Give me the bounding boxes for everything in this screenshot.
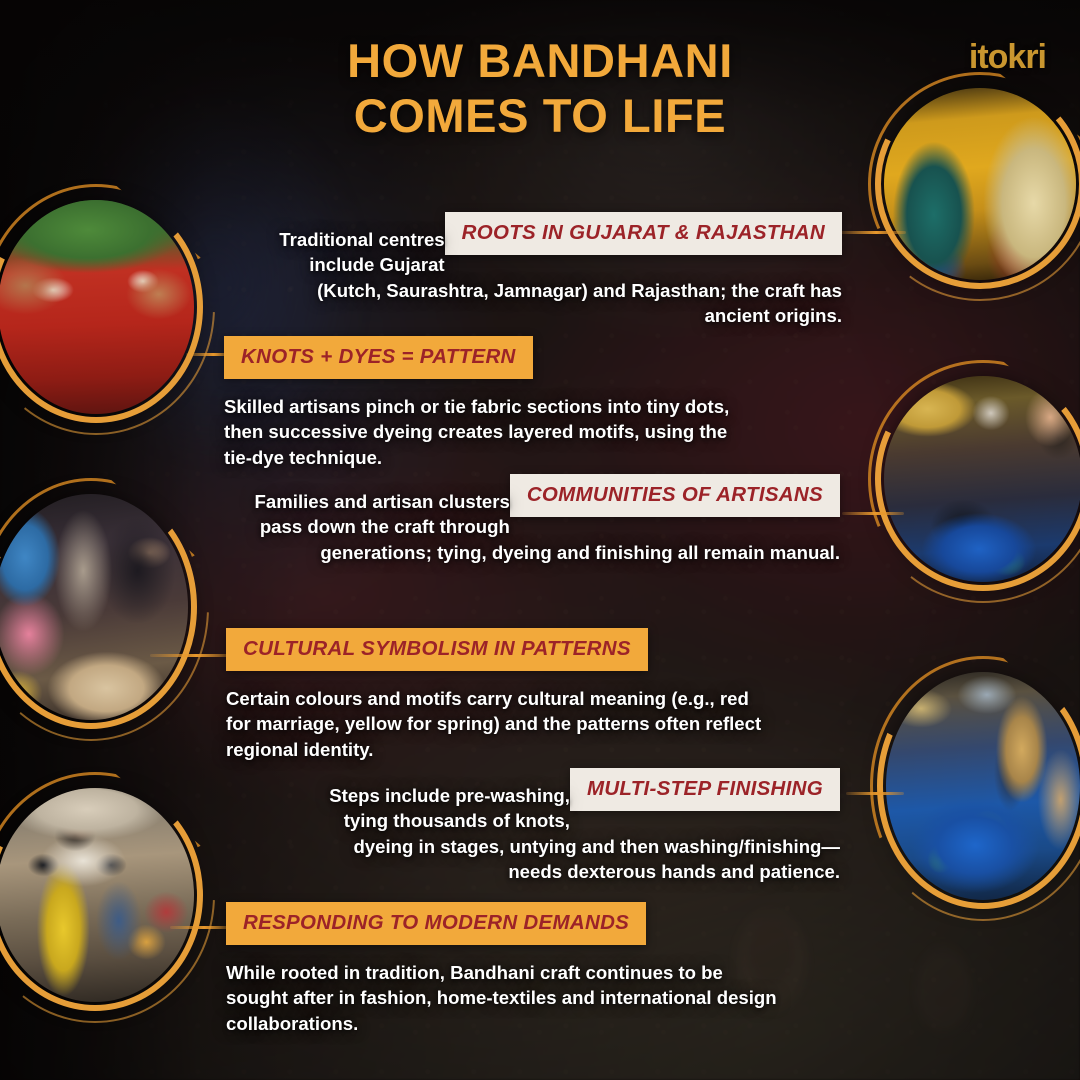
section-heading-badge: MULTI-STEP FINISHING [570, 768, 840, 811]
photo-content [0, 494, 188, 720]
brand-wordmark: itokri [969, 38, 1046, 76]
section-heading-badge: CULTURAL SYMBOLISM IN PATTERNS [226, 628, 648, 671]
section-responding-to-modern-demands: RESPONDING TO MODERN DEMANDS While roote… [226, 902, 786, 1036]
section-heading-badge: COMMUNITIES OF ARTISANS [510, 474, 840, 517]
page-title-line-1: HOW BANDHANI [347, 34, 733, 87]
connector-line-5 [846, 792, 904, 795]
connector-line-1 [840, 231, 906, 234]
section-multi-step-finishing: MULTI-STEP FINISHING Steps include pre-w… [300, 768, 840, 884]
connector-line-6 [170, 926, 232, 929]
section-heading-badge: RESPONDING TO MODERN DEMANDS [226, 902, 646, 945]
itokri-logo[interactable]: itokri [969, 38, 1046, 77]
page-title: HOW BANDHANI COMES TO LIFE [0, 34, 1080, 144]
section-body-text: Certain colours and motifs carry cultura… [226, 686, 766, 762]
photo-hands-tying-red-fabric [0, 200, 194, 414]
photo-content [886, 672, 1080, 900]
photo-content [0, 788, 194, 1002]
section-body-text: Skilled artisans pinch or tie fabric sec… [224, 394, 754, 470]
page-title-line-2: COMES TO LIFE [150, 89, 930, 144]
section-communities-of-artisans: COMMUNITIES OF ARTISANS Families and art… [240, 474, 840, 565]
section-heading-badge: KNOTS + DYES = PATTERN [224, 336, 533, 379]
connector-line-3 [842, 512, 904, 515]
section-heading-badge: ROOTS IN GUJARAT & RAJASTHAN [445, 212, 842, 255]
photo-content [0, 200, 194, 414]
photo-dye-vat-closeup [886, 672, 1080, 900]
section-body-text: While rooted in tradition, Bandhani craf… [226, 960, 786, 1036]
photo-women-knotting-cream-cloth [0, 494, 188, 720]
photo-content [884, 376, 1080, 582]
connector-line-4 [150, 654, 234, 657]
infographic-poster: HOW BANDHANI COMES TO LIFE itokri ROOTS [0, 0, 1080, 1080]
section-cultural-symbolism-in-patterns: CULTURAL SYMBOLISM IN PATTERNS Certain c… [226, 628, 766, 762]
photo-dyer-yellow-cloth [0, 788, 194, 1002]
photo-dyer-blue-vat [884, 376, 1080, 582]
section-roots-in-gujarat-rajasthan: ROOTS IN GUJARAT & RAJASTHAN Traditional… [262, 212, 842, 328]
section-knots-dyes-pattern: KNOTS + DYES = PATTERN Skilled artisans … [224, 336, 754, 470]
